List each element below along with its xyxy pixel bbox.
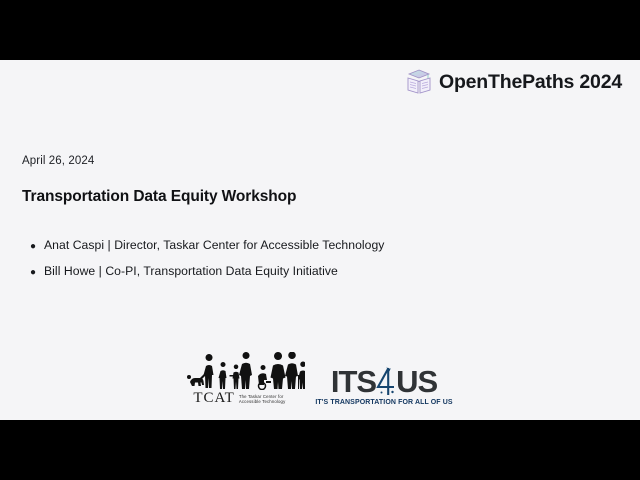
video-frame: OpenThePaths 2024 April 26, 2024 Transpo… <box>0 0 640 480</box>
its4us-wordmark: ITS US <box>331 366 437 397</box>
open-book-graduation-cap-icon <box>406 68 432 96</box>
letterbox-bar-bottom <box>0 420 640 480</box>
diverse-people-silhouettes-icon <box>187 352 305 390</box>
bullet-icon: ● <box>30 268 44 278</box>
list-item: ● Anat Caspi | Director, Taskar Center f… <box>30 238 384 252</box>
tcat-wordmark: TCAT The Taskar Center for Accessible Te… <box>187 391 285 406</box>
slide-header: OpenThePaths 2024 <box>406 68 622 96</box>
brand-title: OpenThePaths 2024 <box>439 71 622 94</box>
speaker-text: Anat Caspi | Director, Taskar Center for… <box>44 238 384 252</box>
its4us-tagline: IT'S TRANSPORTATION FOR ALL OF US <box>315 399 452 406</box>
bullet-icon: ● <box>30 242 44 252</box>
slide-title: Transportation Data Equity Workshop <box>22 188 296 206</box>
tcat-acronym: TCAT <box>193 391 235 406</box>
presentation-slide: OpenThePaths 2024 April 26, 2024 Transpo… <box>0 60 640 420</box>
slide-date: April 26, 2024 <box>22 155 94 167</box>
speaker-list: ● Anat Caspi | Director, Taskar Center f… <box>30 238 384 290</box>
tcat-tagline-line2: Accessible Technology <box>239 399 286 405</box>
its4us-word-left: ITS <box>331 366 376 397</box>
letterbox-bar-top <box>0 0 640 60</box>
its4us-word-right: US <box>396 366 437 397</box>
tcat-logo: TCAT The Taskar Center for Accessible Te… <box>187 352 305 406</box>
tcat-tagline: The Taskar Center for Accessible Technol… <box>239 394 286 406</box>
its4us-logo: ITS US IT'S TRANSPORTATION FOR ALL OF US <box>315 366 452 406</box>
list-item: ● Bill Howe | Co-PI, Transportation Data… <box>30 264 384 278</box>
its4us-numeral-four-icon <box>375 366 397 397</box>
footer-logos: TCAT The Taskar Center for Accessible Te… <box>0 352 640 406</box>
speaker-text: Bill Howe | Co-PI, Transportation Data E… <box>44 264 338 278</box>
